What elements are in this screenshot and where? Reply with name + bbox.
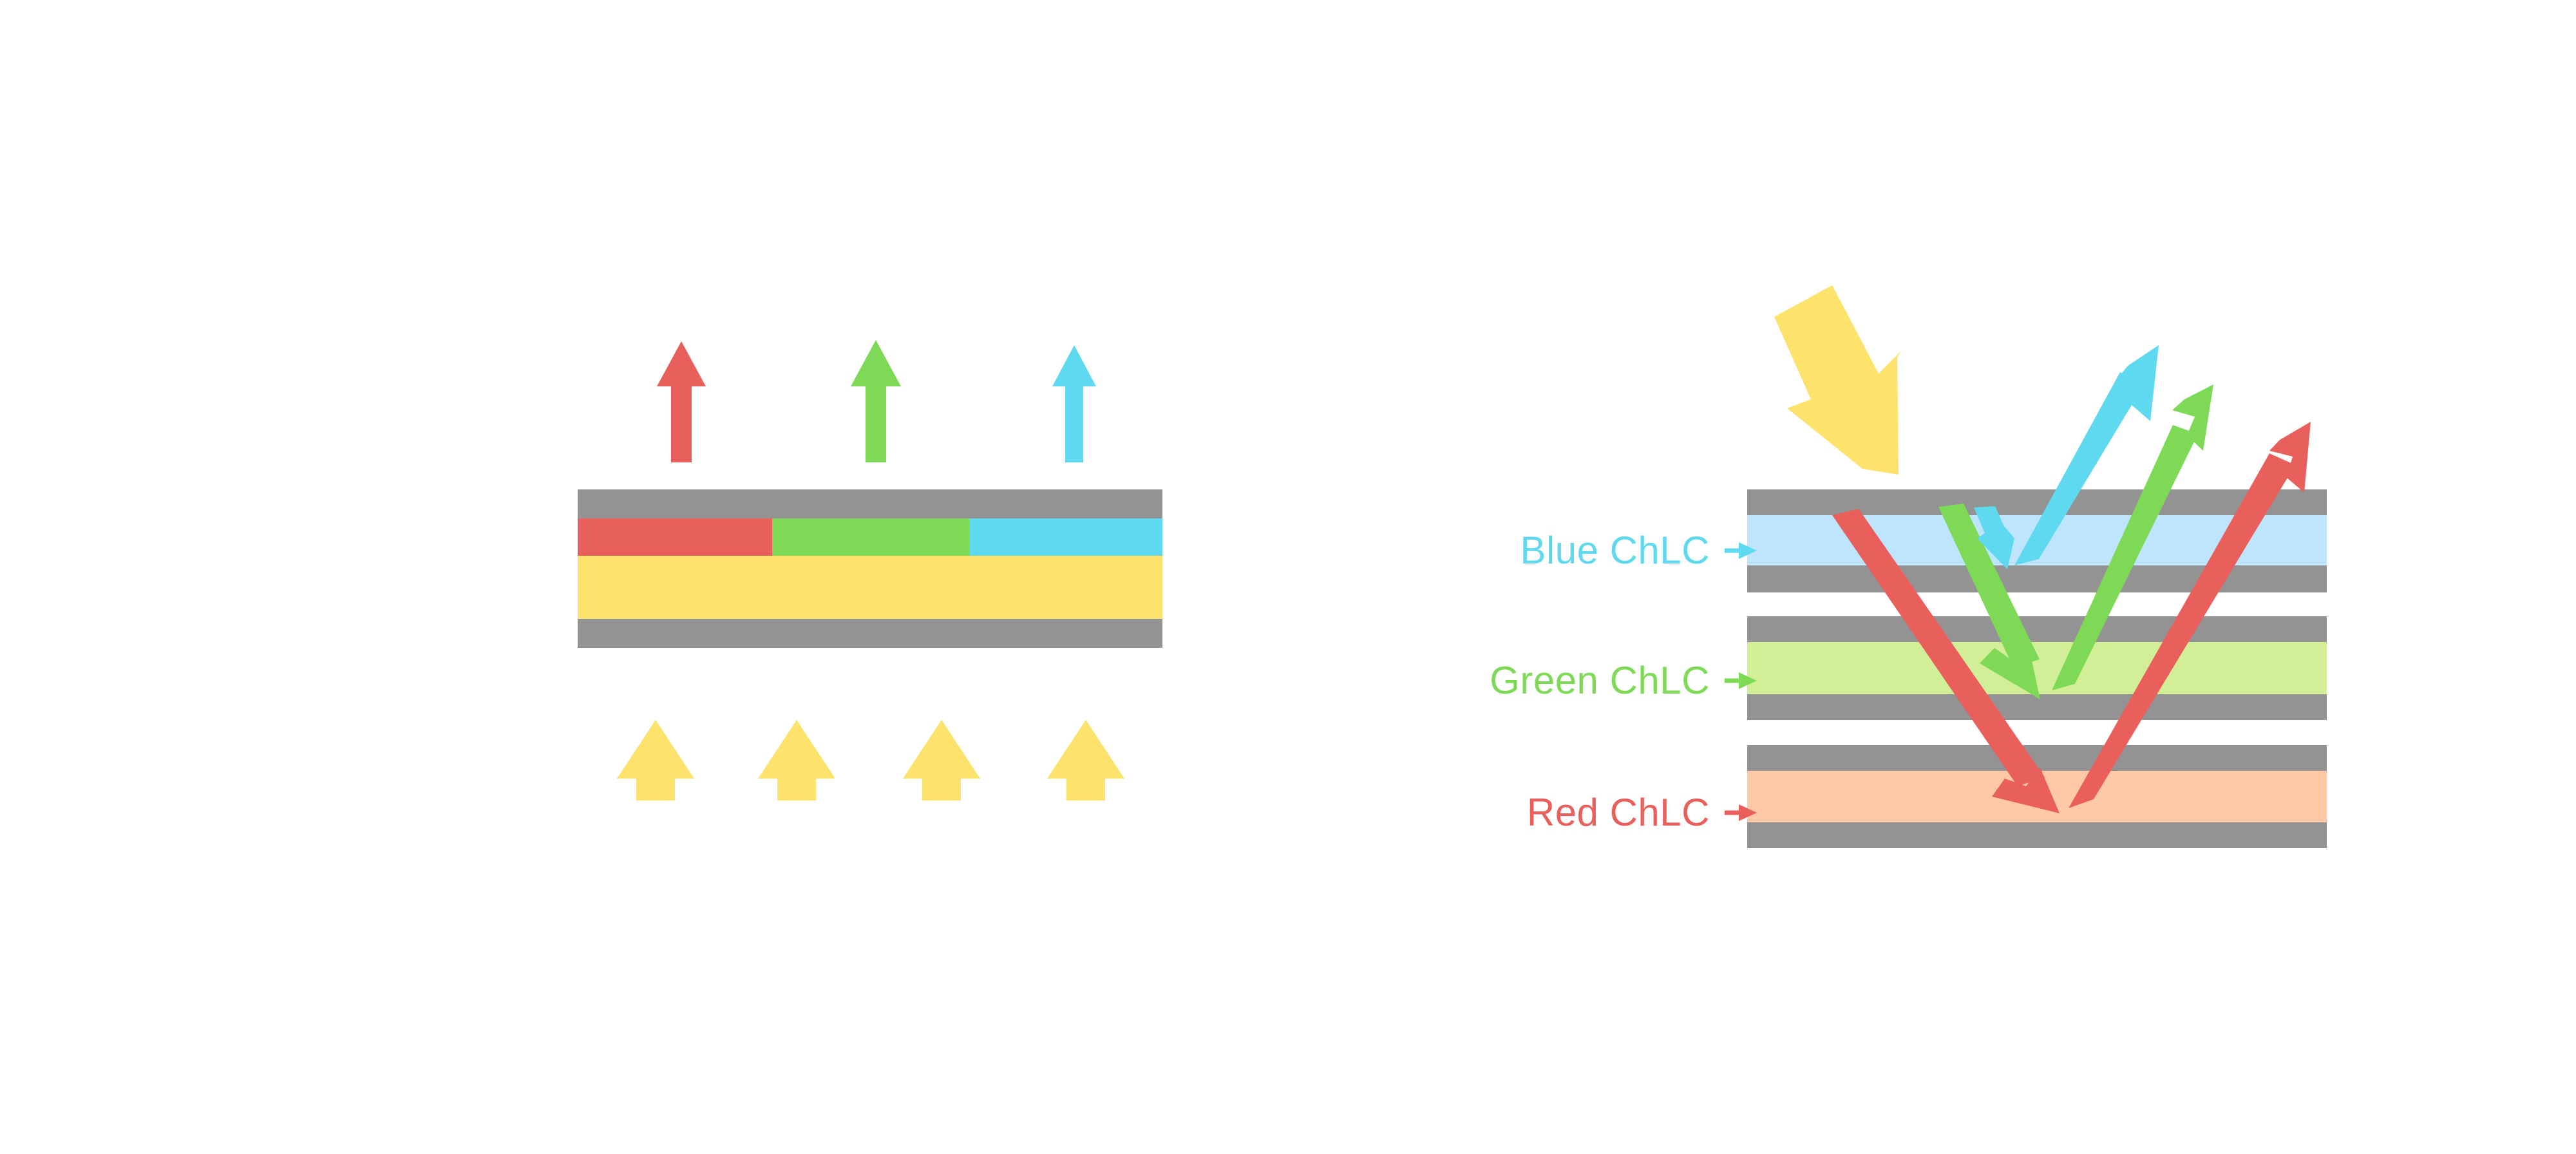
backlight-arrow-3 — [903, 720, 980, 800]
figure-root: Blue ChLC Green ChLC Red ChLC — [0, 0, 2576, 1154]
green-cell-top-electrode — [1747, 616, 2327, 642]
backlight-arrow-4 — [1047, 720, 1124, 800]
green-emit-arrow — [851, 340, 901, 462]
green-cell-bottom-electrode — [1747, 694, 2327, 720]
top-electrode — [578, 489, 1162, 518]
blue-chlc-label: Blue ChLC — [1520, 529, 1710, 572]
green-filter-segment — [772, 518, 969, 556]
red-emit-arrow — [657, 341, 706, 462]
red-filter-segment — [578, 518, 772, 556]
backlight-layer — [578, 556, 1162, 619]
blue-filter-segment — [969, 518, 1162, 556]
right-panel: Blue ChLC Green ChLC Red ChLC — [1490, 285, 2327, 848]
green-chlc-label: Green ChLC — [1490, 659, 1710, 702]
backlight-arrow-1 — [617, 720, 694, 800]
backlight-arrow-2 — [758, 720, 835, 800]
left-panel — [578, 340, 1162, 800]
chlc-labels: Blue ChLC Green ChLC Red ChLC — [1490, 529, 1757, 834]
red-chlc-label: Red ChLC — [1527, 791, 1710, 834]
backlight-arrows — [617, 720, 1124, 800]
blue-emit-arrow — [1052, 345, 1096, 462]
blue-cell-bottom-electrode — [1747, 565, 2327, 592]
incident-white-light-arrow — [1774, 285, 1901, 475]
left-stack — [578, 489, 1162, 648]
left-emitted-arrows — [657, 340, 1096, 462]
red-cell-bottom-electrode — [1747, 822, 2327, 848]
diagram-canvas: Blue ChLC Green ChLC Red ChLC — [0, 0, 2576, 1154]
bottom-electrode — [578, 619, 1162, 648]
